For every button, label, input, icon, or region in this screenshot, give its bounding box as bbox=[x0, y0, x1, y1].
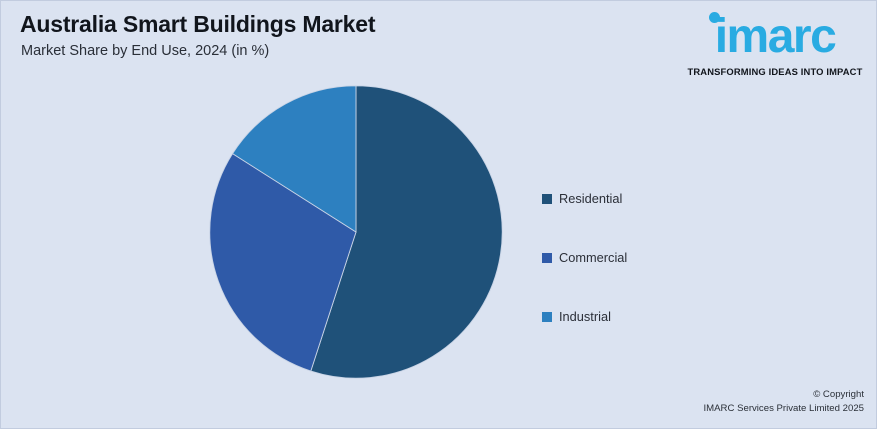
pie-chart-svg bbox=[209, 85, 503, 379]
legend-swatch-industrial bbox=[542, 312, 552, 322]
copyright-line-2: IMARC Services Private Limited 2025 bbox=[704, 402, 865, 416]
logo-wordmark: imarc bbox=[682, 13, 868, 61]
logo-tagline: TRANSFORMING IDEAS INTO IMPACT bbox=[682, 66, 868, 77]
legend-swatch-commercial bbox=[542, 253, 552, 263]
chart-canvas: Australia Smart Buildings Market Market … bbox=[0, 0, 877, 429]
copyright-line-1: © Copyright bbox=[704, 388, 865, 402]
chart-subtitle: Market Share by End Use, 2024 (in %) bbox=[21, 43, 269, 59]
copyright-notice: © Copyright IMARC Services Private Limit… bbox=[704, 388, 865, 416]
legend-swatch-residential bbox=[542, 194, 552, 204]
imarc-logo: imarc TRANSFORMING IDEAS INTO IMPACT bbox=[682, 7, 868, 81]
chart-legend: Residential Commercial Industrial bbox=[542, 169, 762, 346]
legend-item-industrial[interactable]: Industrial bbox=[542, 287, 762, 346]
page-title: Australia Smart Buildings Market bbox=[20, 11, 375, 38]
legend-item-commercial[interactable]: Commercial bbox=[542, 228, 762, 287]
legend-label-commercial: Commercial bbox=[559, 250, 627, 265]
legend-label-industrial: Industrial bbox=[559, 309, 611, 324]
legend-label-residential: Residential bbox=[559, 191, 622, 206]
pie-chart bbox=[209, 85, 503, 379]
legend-item-residential[interactable]: Residential bbox=[542, 169, 762, 228]
